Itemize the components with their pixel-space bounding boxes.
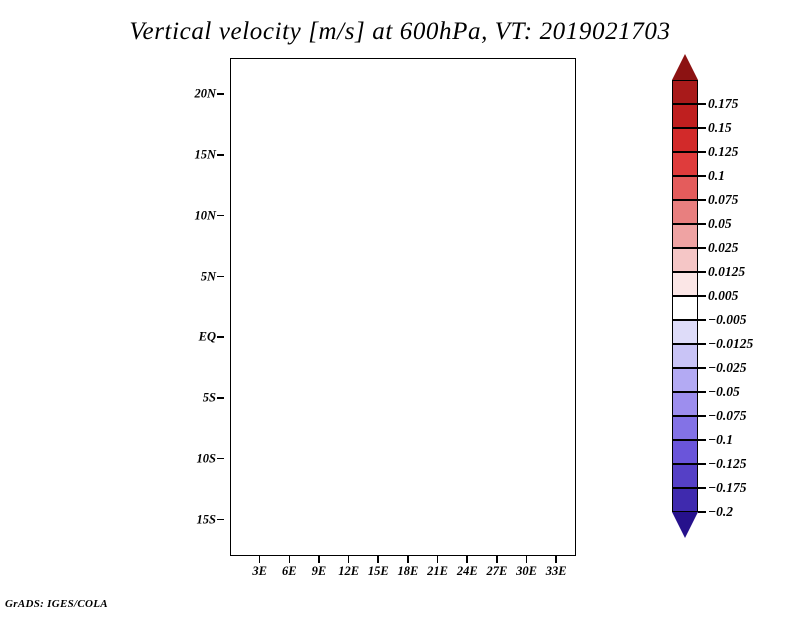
colorbar-label: 0.005 [708, 288, 738, 304]
colorbar-tick [698, 439, 706, 441]
y-axis-label: 5S [203, 391, 216, 406]
x-axis-label: 33E [546, 564, 567, 579]
colorbar-tick [698, 199, 706, 201]
x-axis-tick [526, 556, 528, 563]
colorbar-label: 0.15 [708, 120, 732, 136]
colorbar-label: 0.175 [708, 96, 738, 112]
colorbar-segment [672, 248, 698, 272]
map-plot-area [230, 58, 576, 556]
grads-credit: GrADS: IGES/COLA [5, 598, 108, 610]
x-axis-tick [289, 556, 291, 563]
colorbar-tick [698, 223, 706, 225]
colorbar-label: 0.1 [708, 168, 725, 184]
colorbar-tick [698, 271, 706, 273]
colorbar-tick [698, 319, 706, 321]
y-axis-label: 10N [194, 208, 216, 223]
colorbar-tick [698, 463, 706, 465]
x-axis-label: 3E [252, 564, 267, 579]
x-axis-label: 12E [338, 564, 359, 579]
colorbar-tick [698, 127, 706, 129]
page-title: Vertical velocity [m/s] at 600hPa, VT: 2… [0, 18, 800, 46]
x-axis-tick [318, 556, 320, 563]
colorbar-segment [672, 320, 698, 344]
colorbar-label: 0.075 [708, 192, 738, 208]
y-axis-label: 15S [197, 512, 216, 527]
colorbar-label: −0.005 [708, 312, 747, 328]
colorbar-tick [698, 367, 706, 369]
x-axis-tick [348, 556, 350, 563]
y-axis-label: 5N [201, 269, 216, 284]
colorbar-tick [698, 151, 706, 153]
colorbar-segment [672, 200, 698, 224]
x-axis-label: 21E [427, 564, 448, 579]
x-axis-label: 15E [368, 564, 389, 579]
colorbar-label: −0.2 [708, 504, 733, 520]
colorbar-segment [672, 272, 698, 296]
x-axis-label: 24E [457, 564, 478, 579]
x-axis-label: 27E [486, 564, 507, 579]
colorbar-label: −0.025 [708, 360, 747, 376]
colorbar: 0.1750.150.1250.10.0750.050.0250.01250.0… [672, 80, 698, 536]
x-axis-label: 18E [398, 564, 419, 579]
colorbar-tick [698, 247, 706, 249]
x-axis-tick [555, 556, 557, 563]
x-axis-tick [377, 556, 379, 563]
colorbar-tick [698, 487, 706, 489]
colorbar-segment [672, 488, 698, 512]
colorbar-label: 0.0125 [708, 264, 745, 280]
x-axis-tick [437, 556, 439, 563]
y-axis-label: 10S [197, 451, 216, 466]
x-axis-tick [466, 556, 468, 563]
x-axis-label: 6E [282, 564, 297, 579]
colorbar-label: −0.0125 [708, 336, 753, 352]
colorbar-segment [672, 392, 698, 416]
y-axis-label: 20N [194, 87, 216, 102]
colorbar-min-arrow [672, 512, 698, 538]
colorbar-tick [698, 511, 706, 513]
colorbar-segment [672, 152, 698, 176]
colorbar-label: −0.075 [708, 408, 747, 424]
x-axis-tick [259, 556, 261, 563]
colorbar-label: −0.125 [708, 456, 747, 472]
colorbar-label: −0.1 [708, 432, 733, 448]
colorbar-segment [672, 464, 698, 488]
colorbar-tick [698, 391, 706, 393]
colorbar-segment [672, 224, 698, 248]
colorbar-tick [698, 175, 706, 177]
colorbar-label: 0.125 [708, 144, 738, 160]
colorbar-segment [672, 344, 698, 368]
y-axis-label: 15N [194, 148, 216, 163]
colorbar-tick [698, 343, 706, 345]
colorbar-segment [672, 368, 698, 392]
y-axis-label: EQ [199, 330, 216, 345]
colorbar-segment [672, 296, 698, 320]
country-borders-overlay [231, 59, 575, 554]
colorbar-label: 0.05 [708, 216, 732, 232]
colorbar-segment [672, 128, 698, 152]
colorbar-segment [672, 80, 698, 104]
colorbar-segment [672, 416, 698, 440]
x-axis-label: 30E [516, 564, 537, 579]
x-axis-label: 9E [312, 564, 327, 579]
x-axis-tick [496, 556, 498, 563]
colorbar-label: −0.175 [708, 480, 747, 496]
colorbar-segment [672, 104, 698, 128]
colorbar-max-arrow [672, 54, 698, 80]
x-axis-tick [407, 556, 409, 563]
colorbar-label: −0.05 [708, 384, 740, 400]
colorbar-tick [698, 415, 706, 417]
colorbar-tick [698, 103, 706, 105]
colorbar-segment [672, 176, 698, 200]
colorbar-label: 0.025 [708, 240, 738, 256]
colorbar-tick [698, 295, 706, 297]
colorbar-segment [672, 440, 698, 464]
